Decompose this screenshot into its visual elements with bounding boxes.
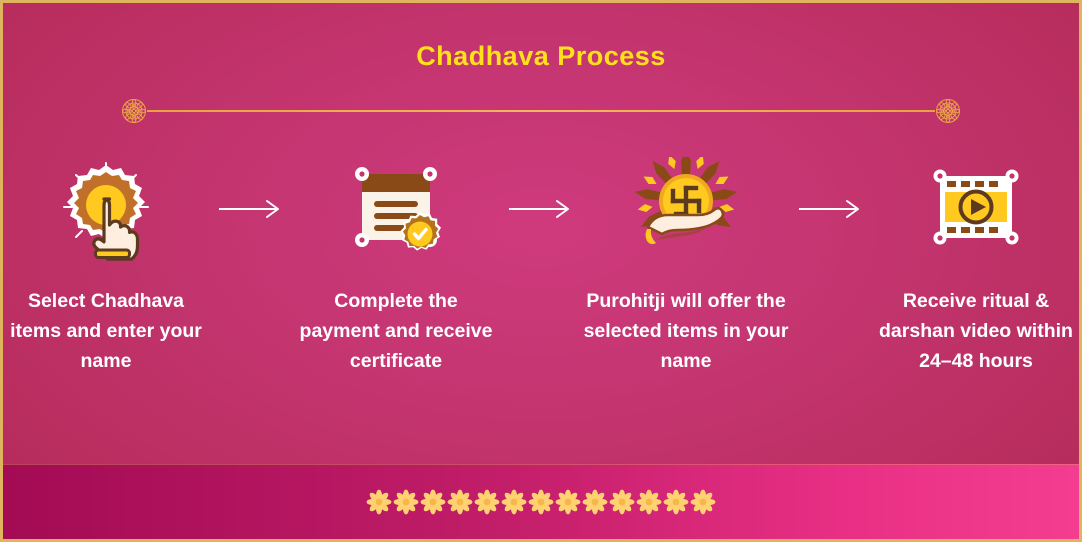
flower-icon [447,489,473,515]
hand-offering-swastika-icon [582,153,790,265]
flower-icon [420,489,446,515]
divider [121,98,961,124]
certificate-seal-icon [292,153,500,265]
flower-icon [474,489,500,515]
flower-icon [582,489,608,515]
flower-icon [555,489,581,515]
step-label: Receive ritual & darshan video within 24… [872,287,1080,376]
divider-line [147,110,935,112]
arrow-right-icon [210,153,292,265]
flower-icon [528,489,554,515]
process-step-2: Complete the payment and receive certifi… [292,153,500,376]
video-filmstrip-play-icon [872,153,1080,265]
step-label: Purohitji will offer the selected items … [582,287,790,376]
flower-icon [393,489,419,515]
arrow-right-icon [500,153,582,265]
process-step-3: Purohitji will offer the selected items … [582,153,790,376]
bottom-ornament-band [3,464,1079,539]
process-steps: Select Chadhava items and enter your nam… [33,153,1049,376]
flower-icon [501,489,527,515]
step-label: Select Chadhava items and enter your nam… [2,287,210,376]
page-title: Chadhava Process [3,41,1079,72]
mandala-icon [931,98,965,124]
flower-icon [690,489,716,515]
process-step-4: Receive ritual & darshan video within 24… [872,153,1080,376]
flower-icon [663,489,689,515]
flower-icon [636,489,662,515]
process-step-1: Select Chadhava items and enter your nam… [2,153,210,376]
flower-icon [366,489,392,515]
mandala-icon [117,98,151,124]
arrow-right-icon [790,153,872,265]
flower-icon [609,489,635,515]
step-label: Complete the payment and receive certifi… [292,287,500,376]
hand-cursor-select-icon [2,153,210,265]
flower-row [366,489,716,515]
chadhava-process-banner: Chadhava Process [0,0,1082,542]
